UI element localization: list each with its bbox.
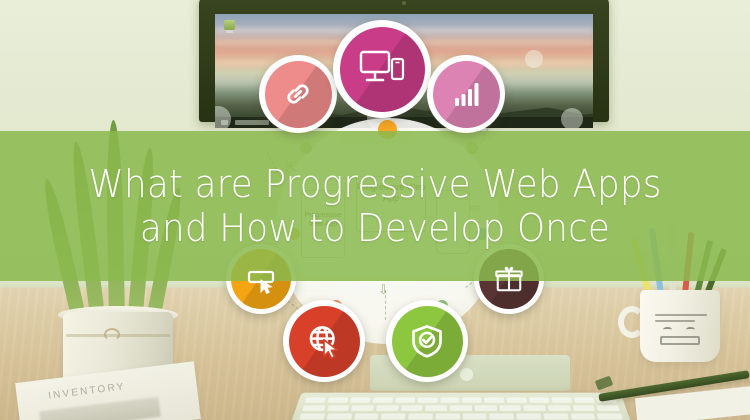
badge-discoverable[interactable] bbox=[283, 300, 365, 382]
button-cursor-icon bbox=[245, 263, 277, 295]
badge-link-fill bbox=[265, 61, 332, 128]
badge-safe[interactable] bbox=[386, 300, 468, 382]
badge-responsive[interactable] bbox=[333, 20, 431, 118]
badge-connector bbox=[385, 290, 386, 320]
coffee-mug bbox=[640, 290, 720, 362]
wallpaper-orb bbox=[215, 106, 231, 128]
bar-chart-icon bbox=[450, 78, 482, 110]
globe-cursor-icon bbox=[305, 322, 343, 360]
page-title: What are Progressive Web Apps and How to… bbox=[23, 131, 728, 281]
badge-link[interactable] bbox=[259, 55, 337, 133]
responsive-devices-icon bbox=[358, 48, 406, 90]
keyboard[interactable] bbox=[288, 393, 634, 420]
mug-smiley-eye bbox=[686, 327, 695, 332]
badge-discoverable-fill bbox=[289, 306, 360, 377]
gift-icon bbox=[494, 264, 524, 294]
plant-pot-bow bbox=[104, 328, 120, 341]
shield-check-icon bbox=[409, 323, 445, 359]
mug-print-line bbox=[655, 320, 695, 322]
wallpaper-orb bbox=[561, 108, 583, 128]
wallpaper-orb bbox=[525, 50, 543, 68]
badge-responsive-fill bbox=[340, 27, 425, 112]
title-line-2: and How to Develop Once bbox=[140, 206, 610, 250]
badge-analytics-fill bbox=[433, 61, 500, 128]
desktop-file-icon[interactable] bbox=[224, 20, 235, 30]
webcam-icon bbox=[402, 1, 406, 5]
badge-safe-fill bbox=[392, 306, 463, 377]
banner-image: INVENTORY Progressive Web App Progressiv… bbox=[0, 0, 750, 420]
badge-analytics[interactable] bbox=[427, 55, 505, 133]
mug-smiley-mouth bbox=[660, 336, 700, 345]
title-line-1: What are Progressive Web Apps bbox=[88, 162, 661, 206]
mug-smiley-eye bbox=[663, 327, 672, 332]
mug-print-line bbox=[655, 314, 707, 316]
link-icon bbox=[281, 77, 315, 111]
